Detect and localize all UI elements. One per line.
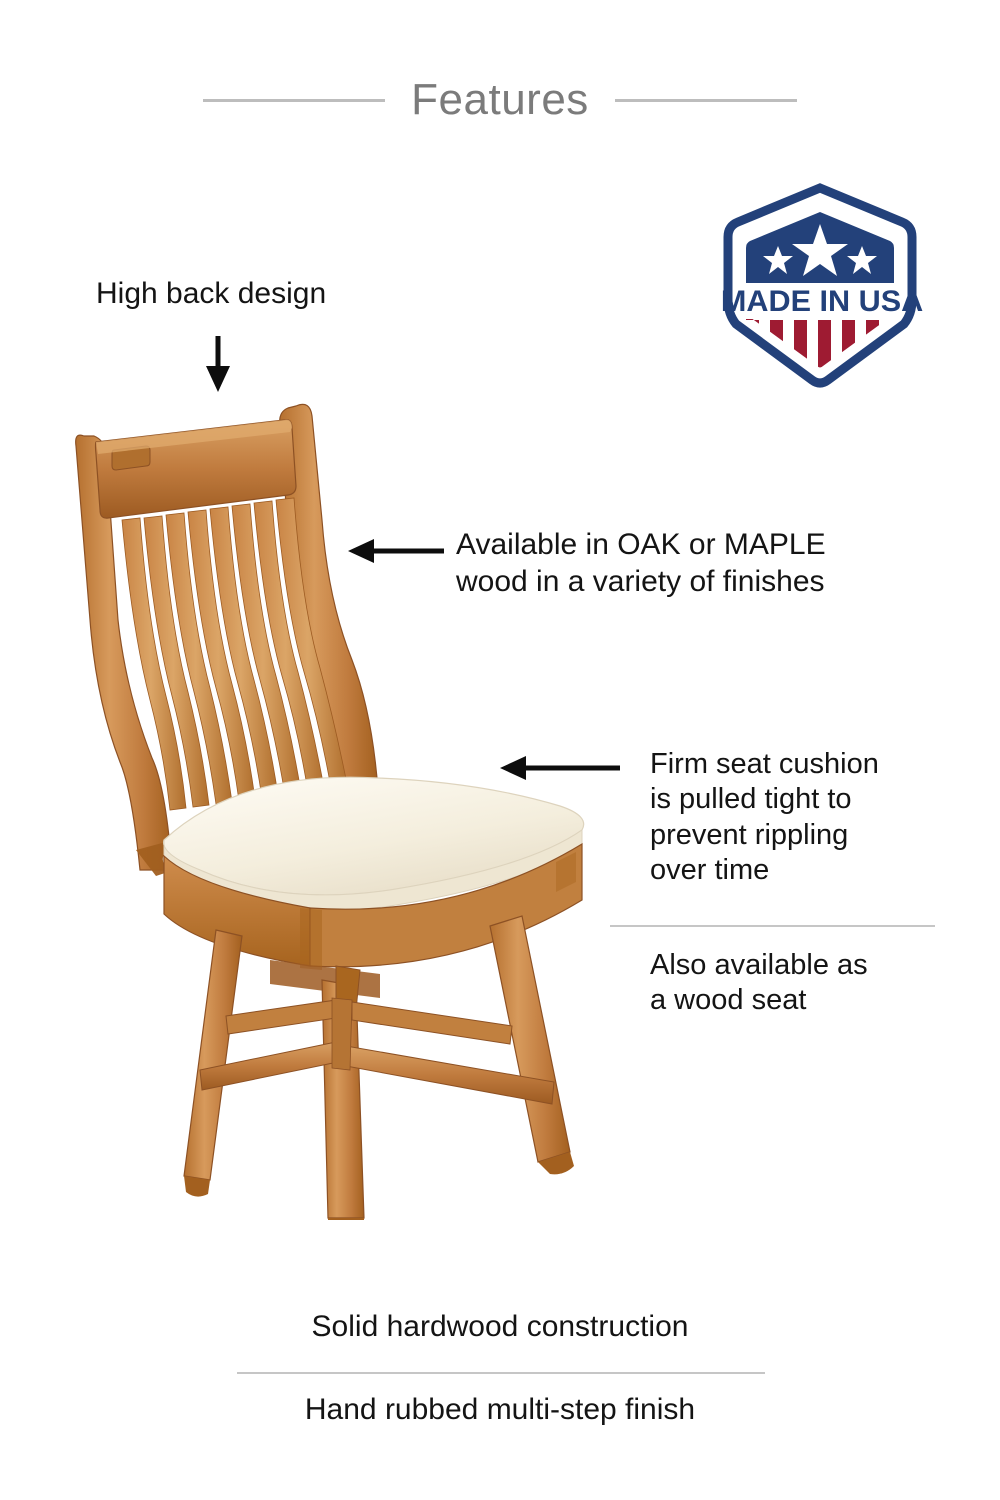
page-title: Features	[411, 78, 589, 122]
annotation-cushion-line3: prevent rippling	[650, 818, 930, 853]
chair-stretcher-right-back	[352, 1002, 512, 1044]
feature-solid-hardwood: Solid hardwood construction	[0, 1310, 1000, 1344]
header-rule-right	[615, 99, 797, 102]
chair-stretcher-left-back	[226, 1000, 336, 1034]
annotation-wood-options: Available in OAK or MAPLE wood in a vari…	[456, 527, 826, 600]
annotation-wood-seat-line2: a wood seat	[650, 983, 930, 1018]
chair-apron-corner	[300, 908, 322, 970]
annotation-high-back: High back design	[96, 276, 326, 313]
annotation-cushion-line4: over time	[650, 853, 930, 888]
annotation-wood-seat-line1: Also available as	[650, 948, 930, 983]
page-header: Features	[0, 60, 1000, 140]
annotation-cushion-line1: Firm seat cushion	[650, 747, 930, 782]
divider-bottom	[237, 1372, 765, 1374]
annotation-wood-line1: Available in OAK or MAPLE	[456, 527, 826, 564]
chair-stretcher-center-post	[332, 998, 352, 1070]
annotation-high-back-label: High back design	[96, 276, 326, 313]
header-rule-left	[203, 99, 385, 102]
chair-leg-back-left	[184, 930, 242, 1180]
annotation-seat-cushion: Firm seat cushion is pulled tight to pre…	[650, 747, 930, 889]
annotation-wood-seat: Also available as a wood seat	[650, 948, 930, 1019]
chair-foot-front-center	[328, 1218, 364, 1220]
product-image-bar-stool	[60, 370, 640, 1220]
feature-hand-rubbed-finish: Hand rubbed multi-step finish	[0, 1393, 1000, 1427]
badge-label: MADE IN USA	[721, 285, 923, 318]
divider-right	[610, 925, 935, 927]
made-in-usa-badge: MADE IN USA	[716, 182, 924, 390]
annotation-wood-line2: wood in a variety of finishes	[456, 564, 826, 601]
annotation-cushion-line2: is pulled tight to	[650, 782, 930, 817]
